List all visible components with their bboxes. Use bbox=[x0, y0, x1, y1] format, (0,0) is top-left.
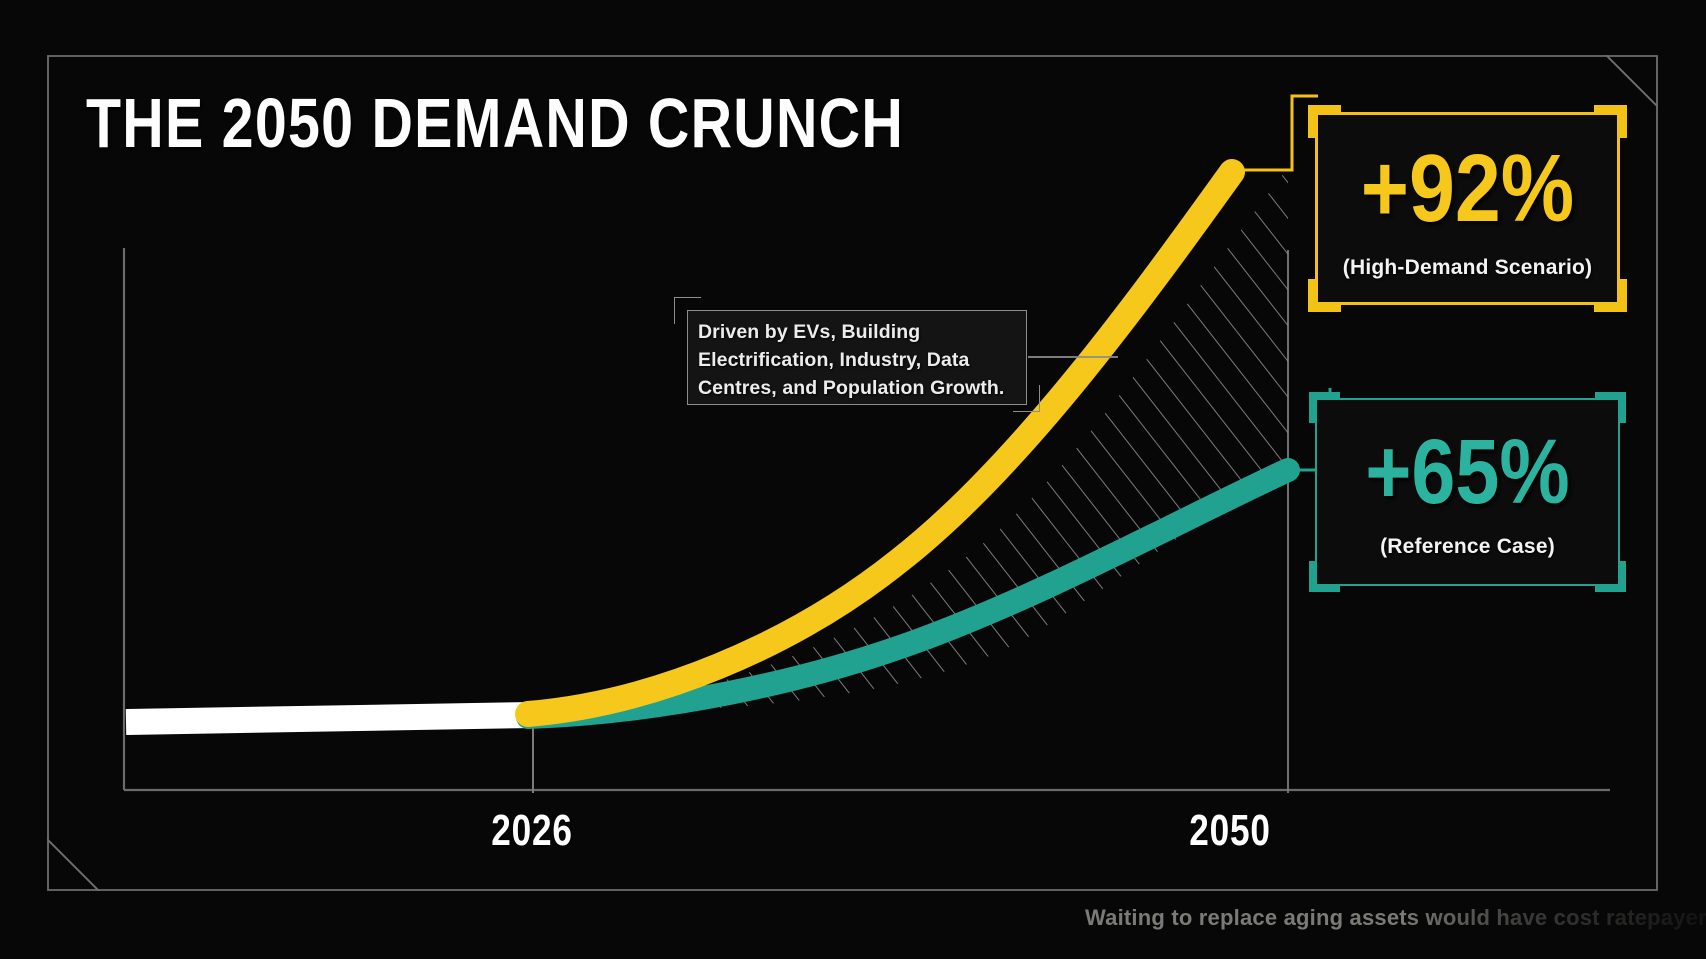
kpi-label-high-demand: (High-Demand Scenario) bbox=[1318, 256, 1617, 280]
kpi-card-high-demand: +92% (High-Demand Scenario) bbox=[1315, 112, 1620, 305]
annotation-bracket-topleft bbox=[674, 297, 701, 324]
corner-tick-bottomright bbox=[1595, 561, 1626, 592]
corner-tick-topleft bbox=[1309, 392, 1340, 423]
footer-caption: Waiting to replace aging assets would ha… bbox=[1085, 905, 1706, 931]
kpi-label-reference-case: (Reference Case) bbox=[1317, 535, 1618, 559]
corner-tick-topright bbox=[1595, 392, 1626, 423]
corner-tick-bottomright bbox=[1594, 279, 1627, 312]
kpi-value-high-demand: +92% bbox=[1339, 141, 1596, 237]
infographic-canvas: THE 2050 DEMAND CRUNCH bbox=[0, 0, 1706, 959]
series-historical bbox=[126, 715, 533, 722]
connector-high-demand bbox=[1244, 96, 1318, 170]
corner-tick-bottomleft bbox=[1309, 561, 1340, 592]
kpi-card-reference-case: +65% (Reference Case) bbox=[1315, 398, 1620, 586]
kpi-value-reference-case: +65% bbox=[1338, 426, 1597, 518]
corner-tick-topleft bbox=[1308, 105, 1341, 138]
annotation-text: Driven by EVs, Building Electrification,… bbox=[698, 318, 1028, 402]
corner-tick-bottomleft bbox=[1308, 279, 1341, 312]
xtick-label-2050: 2050 bbox=[1174, 806, 1286, 856]
xtick-label-2026: 2026 bbox=[476, 806, 588, 856]
corner-tick-topright bbox=[1594, 105, 1627, 138]
